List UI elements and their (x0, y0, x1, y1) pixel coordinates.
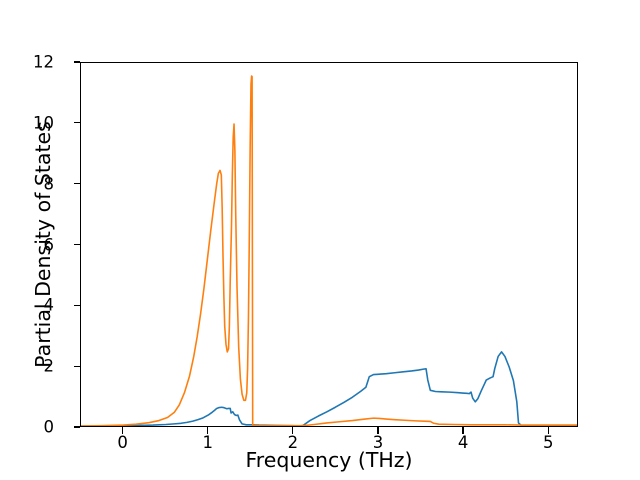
x-tick-mark-1 (207, 427, 208, 434)
x-axis-label: Frequency (THz) (80, 448, 578, 472)
y-tick-label-0: 0 (14, 418, 54, 437)
x-tick-mark-0 (122, 427, 123, 434)
x-tick-mark-2 (292, 427, 293, 434)
plot-area (80, 62, 578, 427)
x-tick-mark-5 (548, 427, 549, 434)
y-tick-label-12: 12 (14, 53, 54, 72)
y-tick-label-10: 10 (14, 113, 54, 132)
series-line-series_1 (81, 352, 577, 426)
matplotlib-figure: Partial Density of States 024681012 0123… (0, 0, 640, 480)
y-tick-label-2: 2 (14, 357, 54, 376)
y-tick-label-4: 4 (14, 296, 54, 315)
series-line-series_2 (81, 76, 577, 426)
y-tick-label-6: 6 (14, 235, 54, 254)
x-tick-mark-3 (377, 427, 378, 434)
x-tick-mark-4 (462, 427, 463, 434)
y-tick-label-8: 8 (14, 174, 54, 193)
curves-svg (81, 63, 577, 426)
